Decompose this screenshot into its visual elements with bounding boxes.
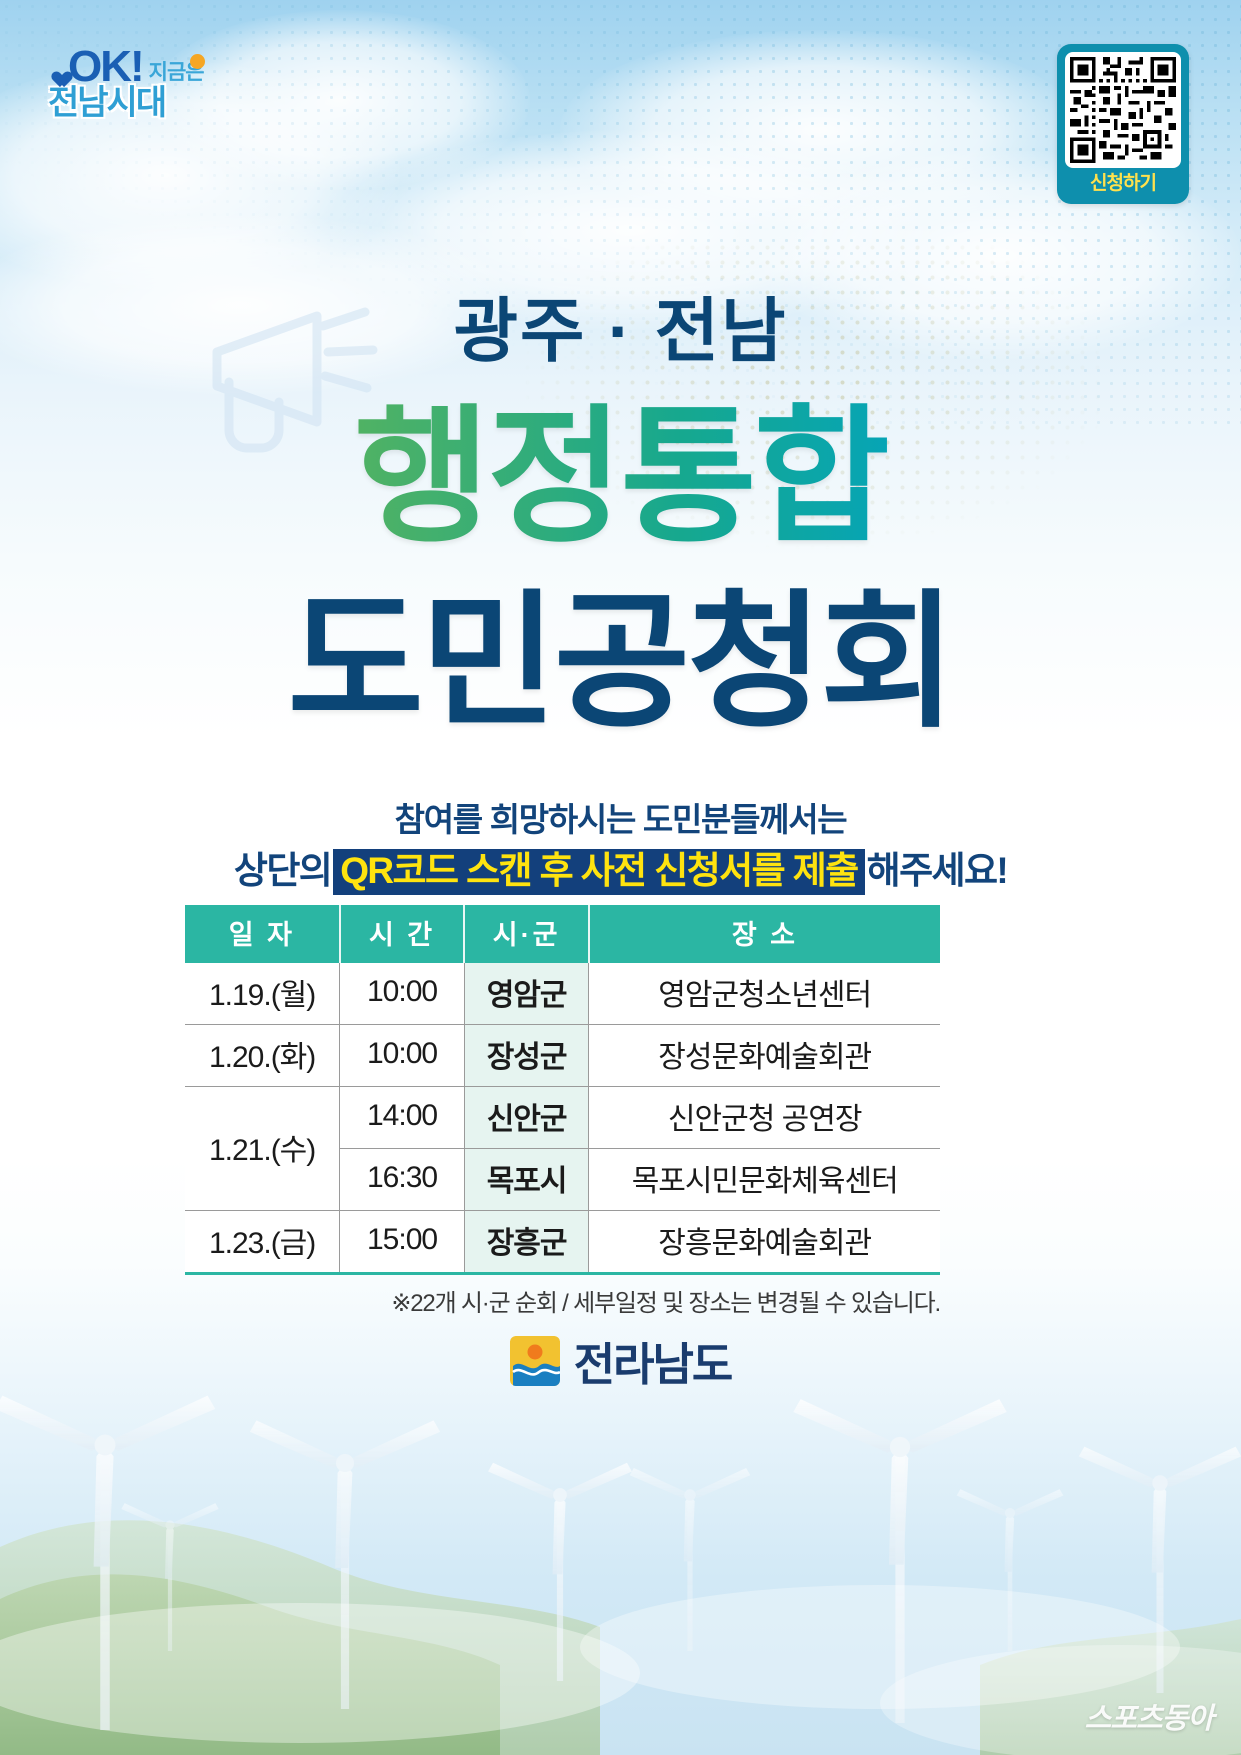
cell-date: 1.23.(금)	[185, 1211, 340, 1274]
table-row: 1.19.(월) 10:00 영암군 영암군청소년센터	[185, 963, 940, 1025]
cell-time: 10:00	[340, 1025, 465, 1087]
brand-ok-text: OK!	[48, 46, 143, 88]
table-row: 1.23.(금) 15:00 장흥군 장흥문화예술회관	[185, 1211, 940, 1274]
orange-dot-icon	[190, 54, 205, 69]
qr-apply-block[interactable]: 신청하기	[1057, 44, 1189, 204]
column-header-place: 장 소	[589, 905, 940, 963]
cell-time: 14:00	[340, 1087, 465, 1149]
column-header-time: 시 간	[340, 905, 465, 963]
apply-button-label[interactable]: 신청하기	[1065, 168, 1181, 200]
cell-sigun: 장성군	[464, 1025, 589, 1087]
subtitle-prefix: 상단의	[234, 850, 331, 891]
heart-icon	[48, 65, 67, 82]
cell-place: 장흥문화예술회관	[589, 1211, 940, 1274]
page-title-region: 광주 · 전남	[0, 296, 1241, 366]
cell-date: 1.20.(화)	[185, 1025, 340, 1087]
cell-time: 10:00	[340, 963, 465, 1025]
cell-sigun: 목포시	[464, 1149, 589, 1211]
cloud-decoration	[560, 30, 1080, 230]
subtitle-line-2: 상단의QR코드 스캔 후 사전 신청서를 제출해주세요!	[0, 840, 1241, 895]
brand-ok-label: OK!	[68, 42, 143, 91]
cell-sigun: 영암군	[464, 963, 589, 1025]
poster-canvas: OK! 지금은 전남시대	[0, 0, 1241, 1755]
wind-turbine-landscape	[0, 1195, 1241, 1755]
schedule-table-wrapper: 일 자 시 간 시·군 장 소 1.19.(월) 10:00 영암군 영암군청소…	[185, 905, 940, 1275]
cell-place: 목포시민문화체육센터	[589, 1149, 940, 1211]
brand-logo-ok-jeonnam: OK! 지금은 전남시대	[48, 46, 278, 121]
table-row: 1.21.(수) 14:00 신안군 신안군청 공연장	[185, 1087, 940, 1149]
brand-jeonnam-era-label: 전남시대	[48, 86, 278, 122]
cell-place: 영암군청소년센터	[589, 963, 940, 1025]
source-watermark: 스포츠동아	[1085, 1695, 1213, 1737]
cell-time: 16:30	[340, 1149, 465, 1211]
cell-date-merged: 1.21.(수)	[185, 1087, 340, 1211]
table-row: 1.20.(화) 10:00 장성군 장성문화예술회관	[185, 1025, 940, 1087]
cell-date: 1.19.(월)	[185, 963, 340, 1025]
brand-now-text: 지금은	[149, 62, 204, 88]
government-logo: 전라남도	[0, 1328, 1241, 1393]
page-title-main: 행정통합	[0, 400, 1241, 557]
column-header-date: 일 자	[185, 905, 340, 963]
jeonnam-emblem-icon	[510, 1336, 560, 1386]
cell-sigun: 신안군	[464, 1087, 589, 1149]
subtitle-suffix: 해주세요!	[867, 850, 1007, 891]
column-header-sigun: 시·군	[464, 905, 589, 963]
schedule-table: 일 자 시 간 시·군 장 소 1.19.(월) 10:00 영암군 영암군청소…	[185, 905, 940, 1275]
cell-place: 신안군청 공연장	[589, 1087, 940, 1149]
subtitle-line-1: 참여를 희망하시는 도민분들께서는	[0, 793, 1241, 841]
government-name-label: 전라남도	[574, 1328, 732, 1393]
page-title-sub: 도민공청회	[0, 585, 1241, 742]
cell-time: 15:00	[340, 1211, 465, 1274]
schedule-footnote: ※22개 시·군 순회 / 세부일정 및 장소는 변경될 수 있습니다.	[185, 1283, 940, 1318]
qr-code-icon[interactable]	[1065, 52, 1181, 168]
cell-place: 장성문화예술회관	[589, 1025, 940, 1087]
subtitle-highlight: QR코드 스캔 후 사전 신청서를 제출	[333, 849, 864, 895]
table-header-row: 일 자 시 간 시·군 장 소	[185, 905, 940, 963]
cell-sigun: 장흥군	[464, 1211, 589, 1274]
brand-row-top: OK! 지금은	[48, 46, 278, 88]
